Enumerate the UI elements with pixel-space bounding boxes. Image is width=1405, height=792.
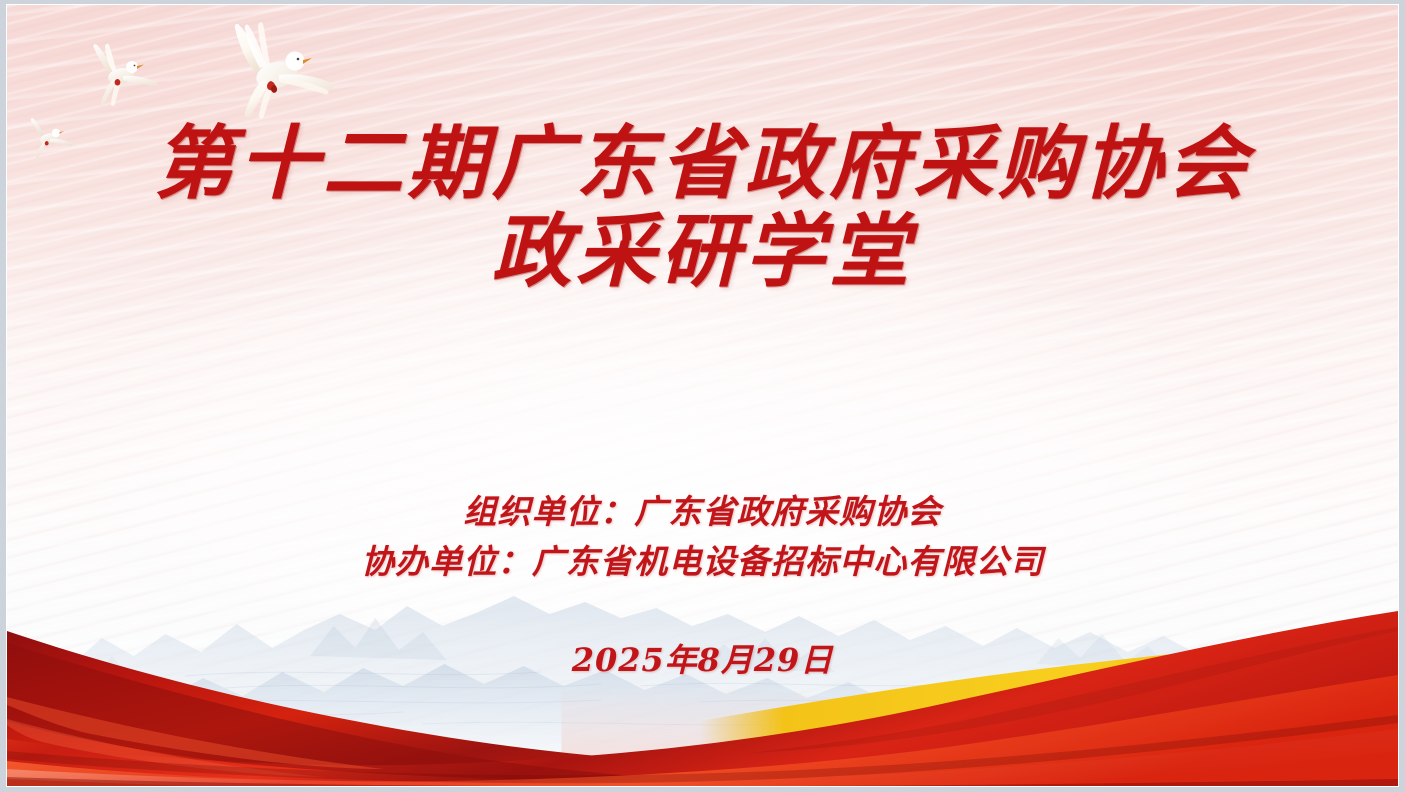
event-date: 2025年8月29日 [572, 641, 833, 679]
organizer-line: 组织单位：广东省政府采购协会 [7, 487, 1398, 537]
slide-title: 第十二期广东省政府采购协会 政采研学堂 [7, 123, 1398, 292]
organizer-info: 组织单位：广东省政府采购协会 协办单位：广东省机电设备招标中心有限公司 [7, 487, 1398, 587]
title-line-1: 第十二期广东省政府采购协会 [7, 123, 1398, 205]
red-ribbon-waves [7, 601, 1398, 786]
slide-canvas: 第十二期广东省政府采购协会 政采研学堂 组织单位：广东省政府采购协会 协办单位：… [6, 4, 1399, 787]
dove-icon-large [203, 21, 343, 125]
slide-frame: 第十二期广东省政府采购协会 政采研学堂 组织单位：广东省政府采购协会 协办单位：… [0, 0, 1405, 792]
co-organizer-line: 协办单位：广东省机电设备招标中心有限公司 [7, 537, 1398, 587]
dove-icon-medium [77, 43, 163, 107]
title-line-2: 政采研学堂 [7, 211, 1398, 293]
date-block: 2025年8月29日 [7, 635, 1398, 681]
